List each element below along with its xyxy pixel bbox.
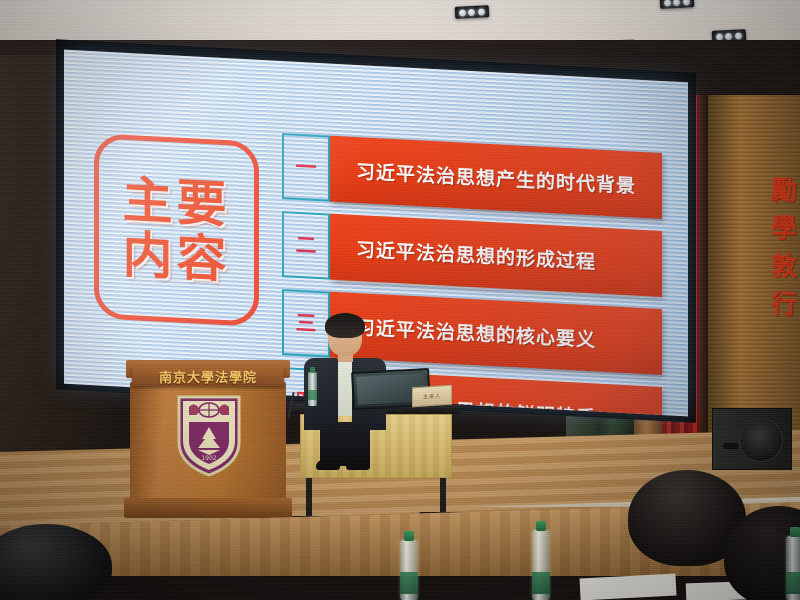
ceiling-spotlight [455,5,490,19]
spotlight-lamp [664,0,671,6]
speaker-cone-icon [739,418,783,462]
audience-paper [579,574,676,600]
bottle-label [532,572,550,594]
outline-numeral-box: 二 [282,211,330,280]
outline-numeral-box: 一 [282,133,330,202]
outline-numeral: 一 [296,156,317,178]
podium-base [124,498,292,518]
presenter-hair [325,313,365,338]
calligraphy-char: 行 [771,292,797,318]
calligraphy-char: 學 [771,216,797,242]
speaker-port [723,443,739,449]
water-bottle [532,530,550,600]
spotlight-lamp [468,8,475,15]
lectern-podium: 南京大學法學院 1902 [124,360,292,520]
outline-item: 一 习近平法治思想产生的时代背景 [282,133,662,219]
water-bottle [308,372,317,406]
outline-bar: 习近平法治思想产生的时代背景 [330,136,662,219]
water-bottle [400,540,418,600]
spotlight-lamp [478,8,485,15]
calligraphy-char: 勵 [771,178,797,204]
outline-item: 二 习近平法治思想的形成过程 [282,211,662,297]
outline-text: 习近平法治思想的形成过程 [356,234,596,274]
crest-year: 1902 [201,455,216,462]
name-card-text: 主讲人 [423,392,441,400]
outline-text: 习近平法治思想的核心要义 [356,312,596,352]
spotlight-lamp [725,32,732,39]
slide-title-box: 主要 内容 [94,133,259,327]
table-leg [306,476,312,520]
outline-bar: 习近平法治思想的形成过程 [330,214,662,297]
spotlight-lamp [459,9,466,16]
outline-numeral: 二 [296,234,317,256]
slide-title-line: 主要 [123,174,231,232]
spotlight-lamp [673,0,680,6]
presenter-shoe [316,460,340,470]
calligraphy-char: 敦 [771,254,797,280]
slide-title-line: 内容 [123,228,231,286]
spotlight-lamp [683,0,690,5]
bottle-label [400,572,418,594]
podium-nameplate: 南京大學法學院 [132,366,284,386]
presenter-shoe [346,460,370,470]
outline-text: 习近平法治思想产生的时代背景 [356,156,636,198]
podium-nameplate-text: 南京大學法學院 [159,367,257,386]
water-bottle [786,536,800,600]
name-card: 主讲人 [412,385,452,408]
lecture-hall-photo: 勵 學 敦 行 主要 内容 一 习近平法治思想产生的时代背景 二 [0,0,800,600]
wall-calligraphy: 勵 學 敦 行 [762,178,800,378]
nanjing-university-crest-icon: 1902 [176,394,242,478]
bottle-label [786,572,800,594]
spotlight-lamp [735,32,742,39]
stage-subwoofer [712,408,792,470]
